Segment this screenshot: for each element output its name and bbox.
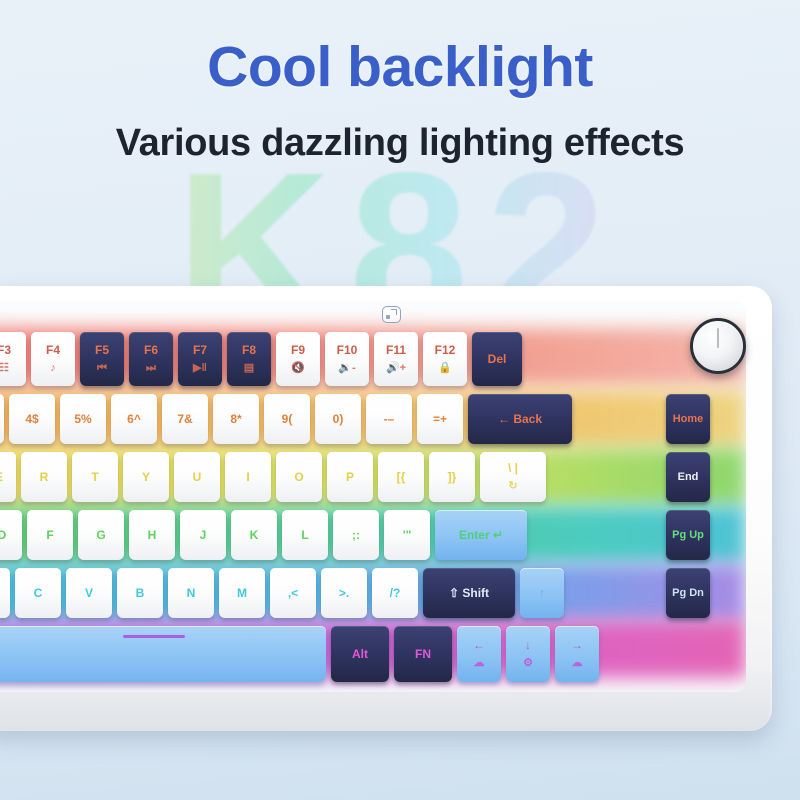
keycap-legend: F7 bbox=[193, 344, 207, 357]
keycap-legend: P bbox=[346, 471, 354, 484]
key-lock[interactable]: F12🔒 bbox=[423, 332, 467, 386]
keycap-legend: 9( bbox=[282, 413, 293, 426]
keycap-legend: F4 bbox=[46, 344, 60, 357]
keycap-legend: ,< bbox=[288, 587, 298, 600]
key-sync[interactable]: \ |↻ bbox=[480, 452, 546, 502]
key-blank[interactable]: ;: bbox=[333, 510, 379, 560]
key-y[interactable]: Y bbox=[123, 452, 169, 502]
keycap-legend: U bbox=[193, 471, 202, 484]
key-blank[interactable]: '" bbox=[384, 510, 430, 560]
keycap-legend: E bbox=[0, 471, 3, 484]
page-title: Cool backlight bbox=[0, 34, 800, 100]
keycap-legend: F6 bbox=[144, 344, 158, 357]
key-t[interactable]: T bbox=[72, 452, 118, 502]
key-b[interactable]: B bbox=[117, 568, 163, 618]
key-volume-up[interactable]: F11🔊+ bbox=[374, 332, 418, 386]
keycap-legend: H bbox=[148, 529, 157, 542]
keycap-legend: 6^ bbox=[127, 413, 141, 426]
key-music[interactable]: F4♪ bbox=[31, 332, 75, 386]
keycap-legend: F10 bbox=[337, 344, 358, 357]
key-i[interactable]: I bbox=[225, 452, 271, 502]
arrow-left-icon: ☁ bbox=[474, 657, 485, 669]
key-play-pause[interactable]: F7▶‖ bbox=[178, 332, 222, 386]
keycap-legend: ]} bbox=[448, 471, 457, 484]
key-row-numbers: 3#4$5%6^7&8*9(0)-–=+← Back bbox=[0, 394, 746, 444]
keycap-legend: ↓ bbox=[525, 639, 531, 652]
keycap-legend: L bbox=[301, 529, 308, 542]
key-7[interactable]: 7& bbox=[162, 394, 208, 444]
keycap-legend: \ | bbox=[508, 462, 518, 475]
keycap-legend: N bbox=[187, 587, 196, 600]
keycap-legend: Del bbox=[488, 353, 507, 366]
keycap-legend: '" bbox=[403, 529, 412, 542]
calculator-icon: ☷ bbox=[0, 362, 9, 374]
key-row-function: F3☷F4♪F5⏮F6⏭F7▶‖F8▤F9🔇F10🔉-F11🔊+F12🔒Del bbox=[0, 332, 746, 386]
keycap-legend: O bbox=[294, 471, 303, 484]
logo-badge-icon bbox=[382, 306, 401, 323]
keycap-legend: FN bbox=[415, 648, 431, 661]
key-o[interactable]: O bbox=[276, 452, 322, 502]
nav-key-end[interactable]: End bbox=[666, 452, 710, 502]
key-3[interactable]: 3# bbox=[0, 394, 4, 444]
keycap-legend: ↑ bbox=[539, 587, 545, 600]
key-4[interactable]: 4$ bbox=[9, 394, 55, 444]
keycap-legend: 8* bbox=[230, 413, 241, 426]
keycap-legend: 4$ bbox=[25, 413, 38, 426]
key-0[interactable]: 0) bbox=[315, 394, 361, 444]
keycap-legend: R bbox=[40, 471, 49, 484]
keycap-legend: Alt bbox=[352, 648, 368, 661]
mute-icon: 🔇 bbox=[291, 362, 305, 374]
key-blank[interactable]: -– bbox=[366, 394, 412, 444]
key-9[interactable]: 9( bbox=[264, 394, 310, 444]
key-enter[interactable]: Enter ↵ bbox=[435, 510, 527, 560]
keycap-legend: [{ bbox=[397, 471, 406, 484]
key-next-track[interactable]: F6⏭ bbox=[129, 332, 173, 386]
keycap-legend: ← bbox=[473, 639, 485, 652]
key-f[interactable]: F bbox=[27, 510, 73, 560]
nav-key-home-label: Home bbox=[666, 394, 710, 444]
key-volume-down[interactable]: F10🔉- bbox=[325, 332, 369, 386]
keycap-legend: I bbox=[246, 471, 249, 484]
sync-icon: ↻ bbox=[508, 480, 517, 492]
keycap-legend: F5 bbox=[95, 344, 109, 357]
keycap-legend: =+ bbox=[433, 413, 447, 426]
key-5[interactable]: 5% bbox=[60, 394, 106, 444]
nav-key-end-label: End bbox=[666, 452, 710, 502]
keycap-legend: → bbox=[571, 639, 583, 652]
key-prev-track[interactable]: F5⏮ bbox=[80, 332, 124, 386]
key-x[interactable]: X bbox=[0, 568, 10, 618]
key-calculator[interactable]: F3☷ bbox=[0, 332, 26, 386]
key-v[interactable]: V bbox=[66, 568, 112, 618]
lock-icon: 🔒 bbox=[438, 362, 452, 374]
key-blank[interactable]: /? bbox=[372, 568, 418, 618]
keycap-legend: 0) bbox=[333, 413, 344, 426]
key-back[interactable]: ← Back bbox=[468, 394, 572, 444]
nav-key-pgup-label: Pg Up bbox=[666, 510, 710, 560]
key-6[interactable]: 6^ bbox=[111, 394, 157, 444]
keyboard-deck: F3☷F4♪F5⏮F6⏭F7▶‖F8▤F9🔇F10🔉-F11🔊+F12🔒Del … bbox=[0, 302, 746, 692]
key-m[interactable]: M bbox=[219, 568, 265, 618]
key-row-bottom: AltFN←☁↓⚙→☁ bbox=[0, 626, 746, 682]
keycap-legend: 5% bbox=[74, 413, 91, 426]
keycap-legend: Y bbox=[142, 471, 150, 484]
keycap-legend: M bbox=[237, 587, 247, 600]
nav-key-home[interactable]: Home bbox=[666, 394, 710, 444]
key-blank[interactable]: [{ bbox=[378, 452, 424, 502]
arrow-down-icon: ⚙ bbox=[523, 657, 533, 669]
key-arrow-left[interactable]: ←☁ bbox=[457, 626, 501, 682]
keycap-legend: D bbox=[0, 529, 6, 542]
keycap-legend: -– bbox=[384, 413, 395, 426]
key-r[interactable]: R bbox=[21, 452, 67, 502]
keycap-legend: J bbox=[200, 529, 207, 542]
key-fn[interactable]: FN bbox=[394, 626, 452, 682]
page-subtitle: Various dazzling lighting effects bbox=[0, 122, 800, 165]
key-p[interactable]: P bbox=[327, 452, 373, 502]
key-arrow-down[interactable]: ↓⚙ bbox=[506, 626, 550, 682]
keycap-legend: ;: bbox=[352, 529, 360, 542]
key-h[interactable]: H bbox=[129, 510, 175, 560]
keycap-legend: F12 bbox=[435, 344, 456, 357]
key-stop[interactable]: F8▤ bbox=[227, 332, 271, 386]
key-d[interactable]: D bbox=[0, 510, 22, 560]
keycap-legend: C bbox=[34, 587, 43, 600]
keycap-legend: G bbox=[96, 529, 105, 542]
volume-up-icon: 🔊+ bbox=[386, 362, 406, 374]
nav-key-pgup[interactable]: Pg Up bbox=[666, 510, 710, 560]
key-blank[interactable]: =+ bbox=[417, 394, 463, 444]
key-shift[interactable]: ⇧ Shift bbox=[423, 568, 515, 618]
key-c[interactable]: C bbox=[15, 568, 61, 618]
key-l[interactable]: L bbox=[282, 510, 328, 560]
key-blank[interactable]: >. bbox=[321, 568, 367, 618]
key-alt[interactable]: Alt bbox=[331, 626, 389, 682]
keycap-legend: >. bbox=[339, 587, 349, 600]
key-j[interactable]: J bbox=[180, 510, 226, 560]
nav-key-pgdn-label: Pg Dn bbox=[666, 568, 710, 618]
keycap-legend: F11 bbox=[386, 344, 406, 357]
key-mute[interactable]: F9🔇 bbox=[276, 332, 320, 386]
keyboard-product-image: F3☷F4♪F5⏮F6⏭F7▶‖F8▤F9🔇F10🔉-F11🔊+F12🔒Del … bbox=[0, 286, 772, 731]
key-row-qwerty: ERTYUIOP[{]}\ |↻ bbox=[0, 452, 746, 502]
music-icon: ♪ bbox=[50, 362, 56, 374]
key-blank[interactable]: ]} bbox=[429, 452, 475, 502]
key-arrow-up[interactable]: ↑ bbox=[520, 568, 564, 618]
key-e[interactable]: E bbox=[0, 452, 16, 502]
next-track-icon: ⏭ bbox=[146, 362, 156, 374]
keycap-legend: V bbox=[85, 587, 93, 600]
play-pause-icon: ▶‖ bbox=[193, 362, 207, 374]
key-k[interactable]: K bbox=[231, 510, 277, 560]
volume-knob[interactable] bbox=[690, 318, 746, 374]
key-row-zxcv: XCVBNM,<>./?⇧ Shift↑ bbox=[0, 568, 746, 618]
keycap-legend: ← Back bbox=[498, 413, 542, 426]
keycap-legend: ⇧ Shift bbox=[449, 587, 489, 600]
key-arrow-right[interactable]: →☁ bbox=[555, 626, 599, 682]
keycap-legend: F3 bbox=[0, 344, 11, 357]
prev-track-icon: ⏮ bbox=[97, 362, 107, 374]
volume-down-icon: 🔉- bbox=[338, 362, 355, 374]
arrow-right-icon: ☁ bbox=[572, 657, 583, 669]
keycap-legend: B bbox=[136, 587, 145, 600]
key-8[interactable]: 8* bbox=[213, 394, 259, 444]
key-blank[interactable]: ,< bbox=[270, 568, 316, 618]
keycap-legend: Enter ↵ bbox=[459, 529, 503, 542]
keycap-legend: K bbox=[250, 529, 259, 542]
stop-icon: ▤ bbox=[244, 362, 254, 374]
keycap-legend: F8 bbox=[242, 344, 256, 357]
key-g[interactable]: G bbox=[78, 510, 124, 560]
keycap-legend: T bbox=[91, 471, 98, 484]
key-u[interactable]: U bbox=[174, 452, 220, 502]
key-spacebar[interactable] bbox=[0, 626, 326, 682]
key-n[interactable]: N bbox=[168, 568, 214, 618]
key-del[interactable]: Del bbox=[472, 332, 522, 386]
keycap-legend: 7& bbox=[177, 413, 192, 426]
keycap-legend: F bbox=[46, 529, 53, 542]
nav-key-pgdn[interactable]: Pg Dn bbox=[666, 568, 710, 618]
keycap-legend: /? bbox=[390, 587, 401, 600]
keycap-legend: F9 bbox=[291, 344, 305, 357]
key-row-home: DFGHJKL;:'"Enter ↵ bbox=[0, 510, 746, 560]
